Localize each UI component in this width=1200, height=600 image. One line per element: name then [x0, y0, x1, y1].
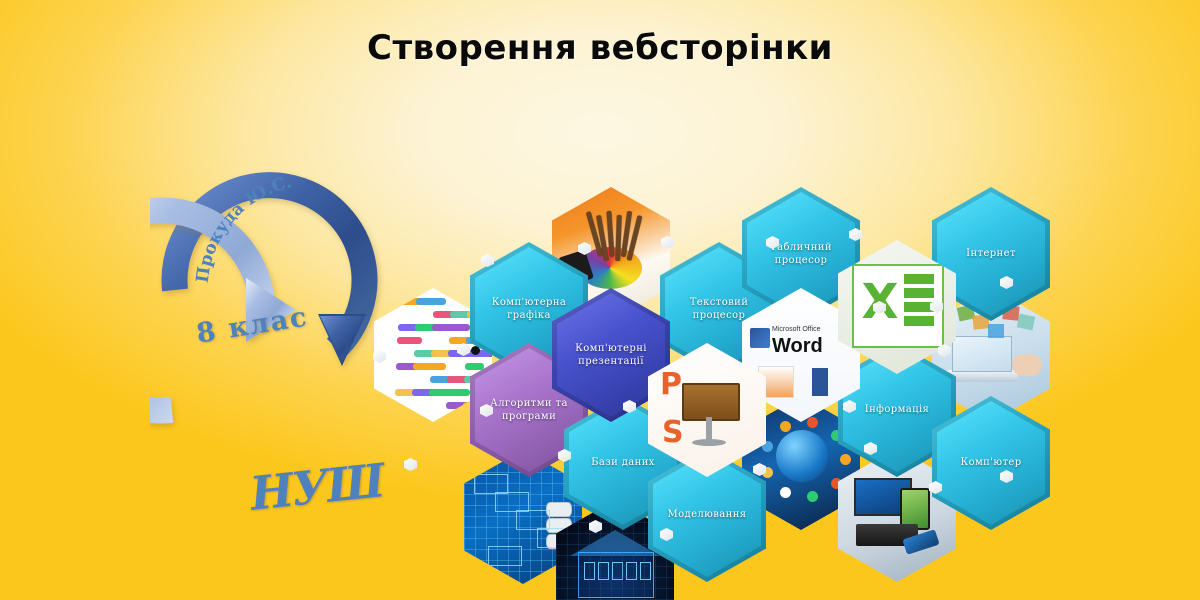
hex-label: Комп'ютерні презентації	[558, 342, 664, 369]
hex-label: Інтернет	[966, 247, 1016, 261]
hexagon-grid: Комп'ютерна графікаАлгоритми та програми…	[0, 0, 1200, 600]
hex-label: Бази даних	[591, 456, 655, 470]
presentation-slide: Створення вебсторінки	[0, 0, 1200, 600]
hex-label: Комп'ютер	[960, 456, 1021, 470]
hex-label: Табличний процесор	[748, 241, 854, 268]
hex-label: Інформація	[865, 403, 930, 417]
hex-label: Моделювання	[667, 508, 746, 522]
hex-connector-node	[404, 458, 417, 471]
